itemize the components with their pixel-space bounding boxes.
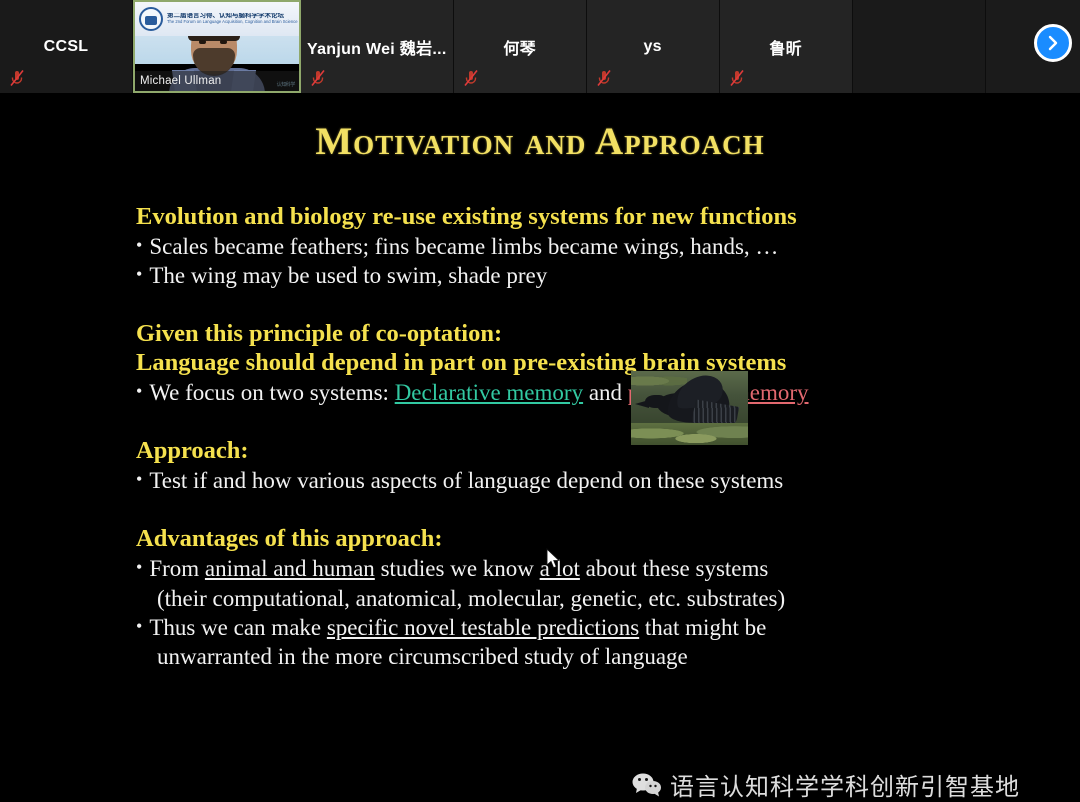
list-item-text: From animal and human studies we know a … (149, 554, 768, 583)
conjunction-text: and (583, 380, 628, 405)
bullet-icon: • (136, 261, 142, 288)
participant-tile-5[interactable]: 鲁昕 (720, 0, 853, 93)
conference-banner: 第二届语言习得、认知与脑科学学术论坛 The 2nd Forum on Lang… (135, 2, 299, 36)
conference-logo-icon (139, 7, 163, 31)
slide-heading-cooptation: Given this principle of co-optation: (136, 320, 966, 349)
watermark: 语言认知科学学科创新引智基地 (632, 767, 1020, 802)
participant-tile-3[interactable]: 何琴 (454, 0, 587, 93)
mic-off-icon (310, 69, 326, 87)
participant-tile-2[interactable]: Yanjun Wei 魏岩... (301, 0, 454, 93)
list-item-text: Scales became feathers; fins became limb… (149, 232, 778, 261)
text-fragment: Thus we can make (149, 615, 327, 640)
list-item: • Thus we can make specific novel testab… (136, 613, 966, 642)
bullet-prefix-text: We focus on two systems: (149, 380, 394, 405)
participant-tile-0[interactable]: CCSL (0, 0, 133, 93)
participant-name: CCSL (38, 38, 95, 56)
term-declarative-memory: Declarative memory (395, 380, 583, 405)
presentation-slide: Motivation and Approach Evolution and bi… (0, 93, 1080, 738)
list-item-text: Test if and how various aspects of langu… (149, 466, 783, 495)
list-item: • We focus on two systems: Declarative m… (136, 378, 966, 407)
wechat-icon (632, 772, 662, 798)
bullet-icon: • (136, 613, 142, 640)
participant-name: Yanjun Wei 魏岩... (301, 35, 453, 59)
participant-name: ys (637, 38, 667, 56)
list-item-continuation: (their computational, anatomical, molecu… (136, 584, 966, 613)
list-item: • Scales became feathers; fins became li… (136, 232, 966, 261)
watermark-text: 语言认知科学学科创新引智基地 (670, 767, 1020, 802)
participant-video-strip: CCSL 第二届语言习得、认知与脑科学学术论坛 The 2nd Forum on… (0, 0, 1080, 93)
text-fragment: studies we know (375, 556, 540, 581)
list-item: • The wing may be used to swim, shade pr… (136, 261, 966, 290)
slide-heading-evolution: Evolution and biology re-use existing sy… (136, 203, 966, 232)
bullet-icon: • (136, 554, 142, 581)
list-item: • Test if and how various aspects of lan… (136, 466, 966, 495)
underlined-animal-and-human: animal and human (205, 556, 375, 581)
list-item-text: The wing may be used to swim, shade prey (149, 261, 547, 290)
next-page-button[interactable] (1034, 24, 1072, 62)
text-fragment: about these systems (580, 556, 768, 581)
bullet-icon: • (136, 466, 142, 493)
mic-off-icon (596, 69, 612, 87)
slide-heading-language-depends: Language should depend in part on pre-ex… (136, 349, 966, 378)
mic-off-icon (463, 69, 479, 87)
underlined-specific-novel-predictions: specific novel testable predictions (327, 615, 639, 640)
list-item-text: Thus we can make specific novel testable… (149, 613, 766, 642)
text-fragment: From (149, 556, 205, 581)
chevron-right-icon (1045, 34, 1061, 52)
mic-off-icon (9, 69, 25, 87)
participant-name: 何琴 (497, 35, 542, 59)
participant-tile-overflow (853, 0, 986, 93)
bullet-icon: • (136, 378, 142, 405)
participant-name: 鲁昕 (763, 35, 808, 59)
page-title: Motivation and Approach (0, 119, 1080, 164)
participant-tile-active-video[interactable]: 第二届语言习得、认知与脑科学学术论坛 The 2nd Forum on Lang… (133, 0, 301, 93)
conference-banner-title-en: The 2nd Forum on Language Acquisition, C… (167, 20, 298, 24)
bullet-icon: • (136, 232, 142, 259)
slide-heading-approach: Approach: (136, 437, 966, 466)
list-item-continuation: unwarranted in the more circumscribed st… (136, 642, 966, 671)
slide-body: Evolution and biology re-use existing sy… (136, 203, 966, 671)
mic-off-icon (729, 69, 745, 87)
mouse-cursor-icon (546, 548, 562, 570)
participant-tile-4[interactable]: ys (587, 0, 720, 93)
text-fragment: that might be (639, 615, 766, 640)
black-heron-photo (631, 371, 748, 445)
participant-name: Michael Ullman (135, 71, 299, 91)
